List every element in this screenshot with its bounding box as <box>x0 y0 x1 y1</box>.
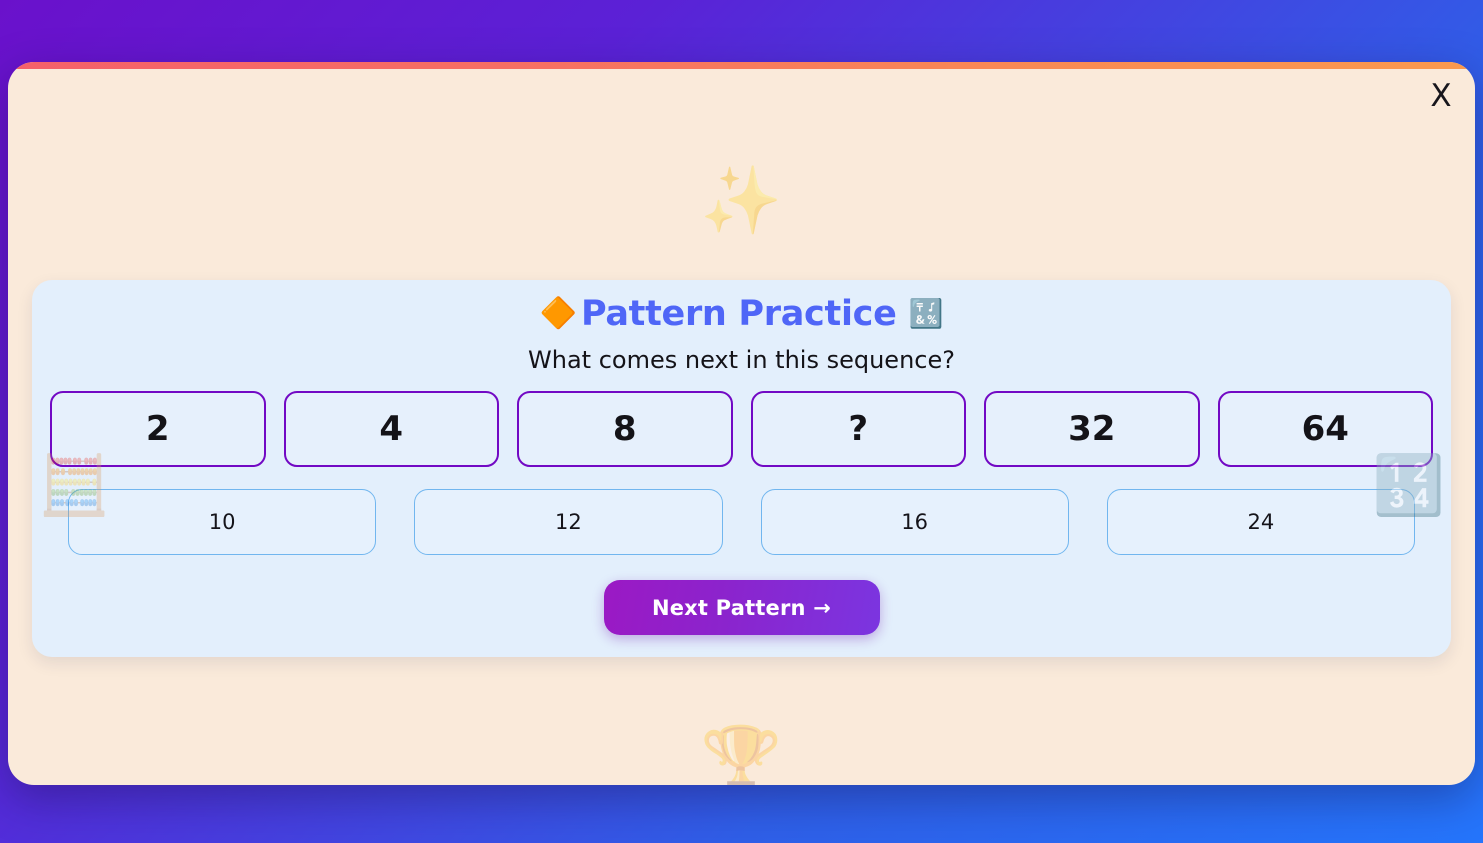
pattern-practice-modal: X ✨ 🏆 🧮 🔢 What comes next in this sequen… <box>8 62 1475 785</box>
sequence-cell: 4 <box>284 391 500 467</box>
next-button-row: Next Pattern → <box>46 580 1437 635</box>
quiz-panel: What comes next in this sequence? 248?32… <box>32 280 1451 657</box>
card-accent-strip <box>8 62 1475 69</box>
page-title-text: Pattern Practice <box>581 294 897 334</box>
trophy-icon: 🏆 <box>700 728 782 785</box>
question-prompt: What comes next in this sequence? <box>46 346 1437 374</box>
sequence-cell: ? <box>751 391 967 467</box>
sequence-cell: 64 <box>1218 391 1434 467</box>
answer-option[interactable]: 24 <box>1107 489 1415 555</box>
sequence-cell: 2 <box>50 391 266 467</box>
sparkles-icon: ✨ <box>700 168 782 234</box>
answer-options-row: 10121624 <box>46 489 1437 555</box>
close-icon[interactable]: X <box>1421 76 1461 116</box>
sequence-cell: 8 <box>517 391 733 467</box>
shapes-icon: 🔶 <box>540 299 577 329</box>
answer-option[interactable]: 16 <box>761 489 1069 555</box>
answer-option[interactable]: 12 <box>414 489 722 555</box>
next-pattern-button[interactable]: Next Pattern → <box>604 580 880 635</box>
sequence-cell: 32 <box>984 391 1200 467</box>
answer-option[interactable]: 10 <box>68 489 376 555</box>
input-symbols-icon: 🔣 <box>909 300 944 328</box>
page-title: 🔶 Pattern Practice 🔣 <box>8 294 1475 334</box>
sequence-row: 248?3264 <box>46 391 1437 467</box>
